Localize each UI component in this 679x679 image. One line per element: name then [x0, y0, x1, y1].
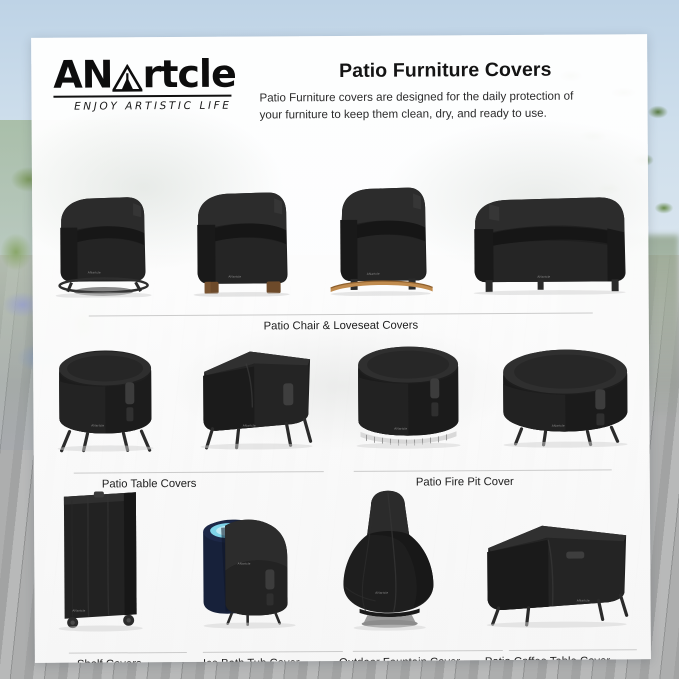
product-loveseat-cover[interactable]: ANartcle: [459, 172, 640, 295]
product-brand-tag: ANartcle: [394, 427, 407, 431]
caption-shelf: Shelf Covers: [77, 658, 142, 663]
product-ice-bath-tub-cover[interactable]: ANartcle: [181, 481, 302, 632]
product-outdoor-fountain-cover[interactable]: ANartcle: [333, 480, 444, 631]
caption-divider: [203, 651, 343, 653]
caption-divider: [353, 650, 503, 652]
row-tables-firepit: ANartcle ANartcle: [33, 302, 650, 461]
product-brand-tag: ANartcle: [72, 609, 85, 613]
product-brand-tag: ANartcle: [91, 423, 104, 427]
product-brand-tag: ANartcle: [537, 275, 550, 279]
tent-icon: [112, 61, 142, 91]
product-brand-tag: ANartcle: [228, 275, 241, 279]
product-patio-coffee-table-cover[interactable]: ANartcle: [474, 479, 635, 630]
page-description-line-2: your furniture to keep them clean, dry, …: [260, 105, 632, 124]
product-round-table-cover[interactable]: ANartcle: [47, 334, 164, 453]
row-tables-firepit-items: ANartcle ANartcle: [33, 319, 650, 453]
product-shelf-cover[interactable]: ANartcle: [50, 482, 151, 633]
brand-name-suffix: rtcle: [142, 52, 236, 97]
product-brand-tag: ANartcle: [375, 591, 388, 595]
row-misc: ANartcle: [34, 457, 651, 641]
product-rocking-chair-cover[interactable]: ANartcle: [320, 173, 441, 296]
brand-logo: AN rtcle ENJOY ARTISTIC LIFE: [53, 55, 253, 113]
brand-wordmark: AN rtcle: [53, 55, 253, 94]
row-chairs-items: ANartcle A: [32, 152, 649, 298]
product-brand-tag: ANartcle: [243, 424, 256, 428]
row-misc-captions: Shelf Covers Ice Bath Tub Cover Outdoor …: [35, 649, 651, 653]
page-title: Patio Furniture Covers: [259, 58, 631, 83]
brand-name-prefix: AN: [53, 52, 112, 96]
brand-tagline: ENJOY ARTISTIC LIFE: [53, 100, 231, 113]
product-brand-tag: ANartcle: [367, 272, 380, 276]
infographic-canvas: AN rtcle ENJOY ARTISTIC LIFE Patio Furni…: [0, 0, 679, 679]
page-description: Patio Furniture covers are designed for …: [259, 88, 631, 124]
header-text-block: Patio Furniture Covers Patio Furniture c…: [259, 58, 631, 124]
product-brand-tag: ANartcle: [88, 270, 101, 274]
product-brand-tag: ANartcle: [577, 598, 590, 602]
caption-divider: [69, 652, 187, 654]
header: AN rtcle ENJOY ARTISTIC LIFE Patio Furni…: [31, 34, 648, 144]
caption-divider: [509, 649, 637, 651]
content-panel: AN rtcle ENJOY ARTISTIC LIFE Patio Furni…: [31, 34, 651, 663]
product-brand-tag: ANartcle: [238, 562, 251, 566]
product-swivel-chair-cover[interactable]: ANartcle: [41, 175, 162, 298]
row-chairs: ANartcle A: [32, 142, 649, 306]
product-brand-tag: ANartcle: [552, 424, 565, 428]
product-wide-fire-pit-cover[interactable]: ANartcle: [495, 331, 636, 450]
product-club-chair-cover[interactable]: ANartcle: [180, 174, 303, 297]
product-square-table-cover[interactable]: ANartcle: [190, 333, 321, 452]
row-misc-items: ANartcle: [34, 477, 651, 633]
product-tall-fire-pit-cover[interactable]: ANartcle: [348, 332, 469, 451]
